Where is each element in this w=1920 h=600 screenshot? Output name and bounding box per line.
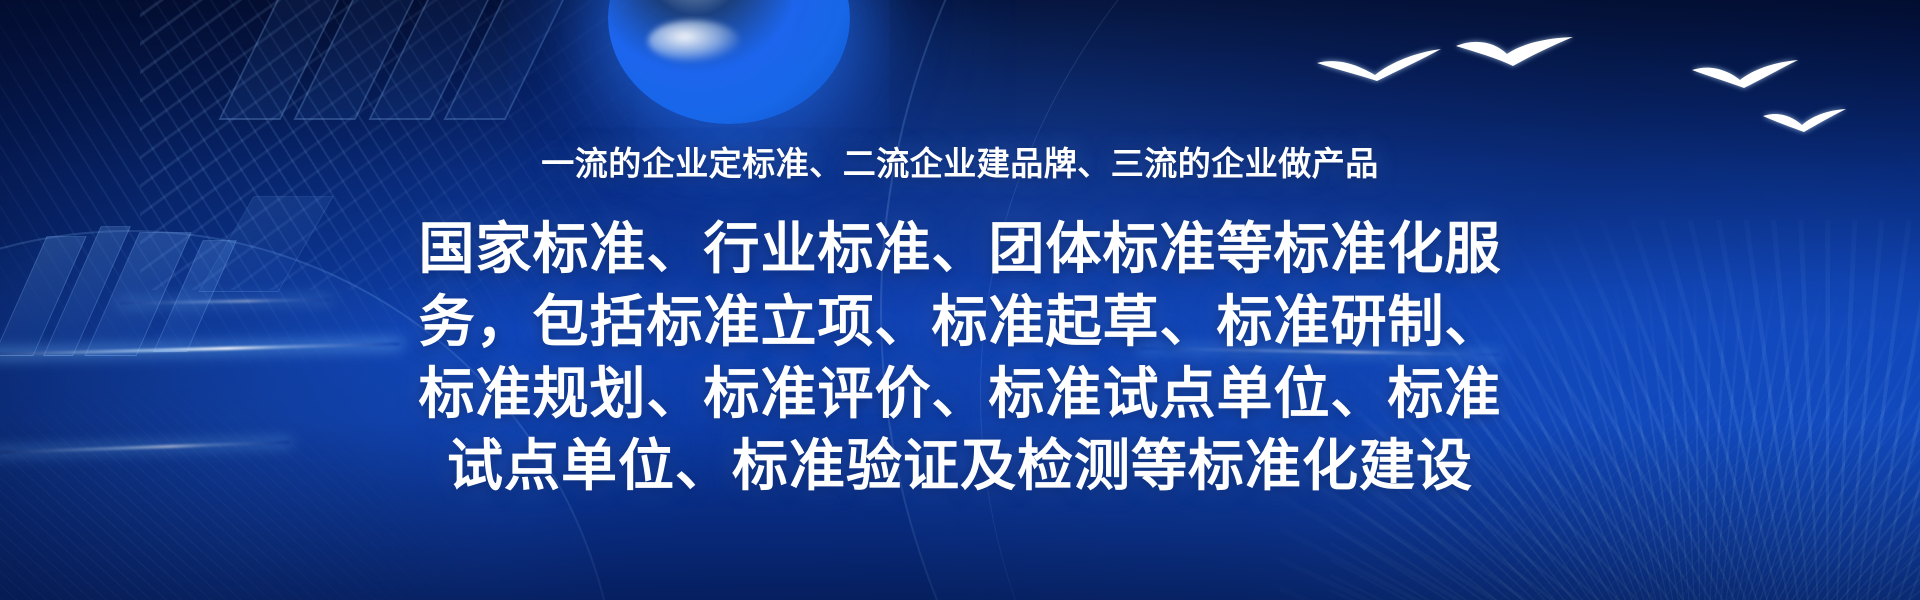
- banner-headline: 一流的企业定标准、二流企业建品牌、三流的企业做产品: [0, 146, 1920, 182]
- banner-body-line-1: 国家标准、行业标准、团体标准等标准化服: [335, 214, 1585, 286]
- banner-content: 一流的企业定标准、二流企业建品牌、三流的企业做产品 国家标准、行业标准、团体标准…: [0, 0, 1920, 503]
- promo-banner: 一流的企业定标准、二流企业建品牌、三流的企业做产品 国家标准、行业标准、团体标准…: [0, 0, 1920, 600]
- banner-body-line-3: 标准规划、标准评价、标准试点单位、标准: [335, 359, 1585, 431]
- banner-body: 国家标准、行业标准、团体标准等标准化服 务，包括标准立项、标准起草、标准研制、 …: [335, 214, 1585, 503]
- banner-body-line-2: 务，包括标准立项、标准起草、标准研制、: [335, 287, 1585, 359]
- banner-body-line-4: 试点单位、标准验证及检测等标准化建设: [335, 431, 1585, 503]
